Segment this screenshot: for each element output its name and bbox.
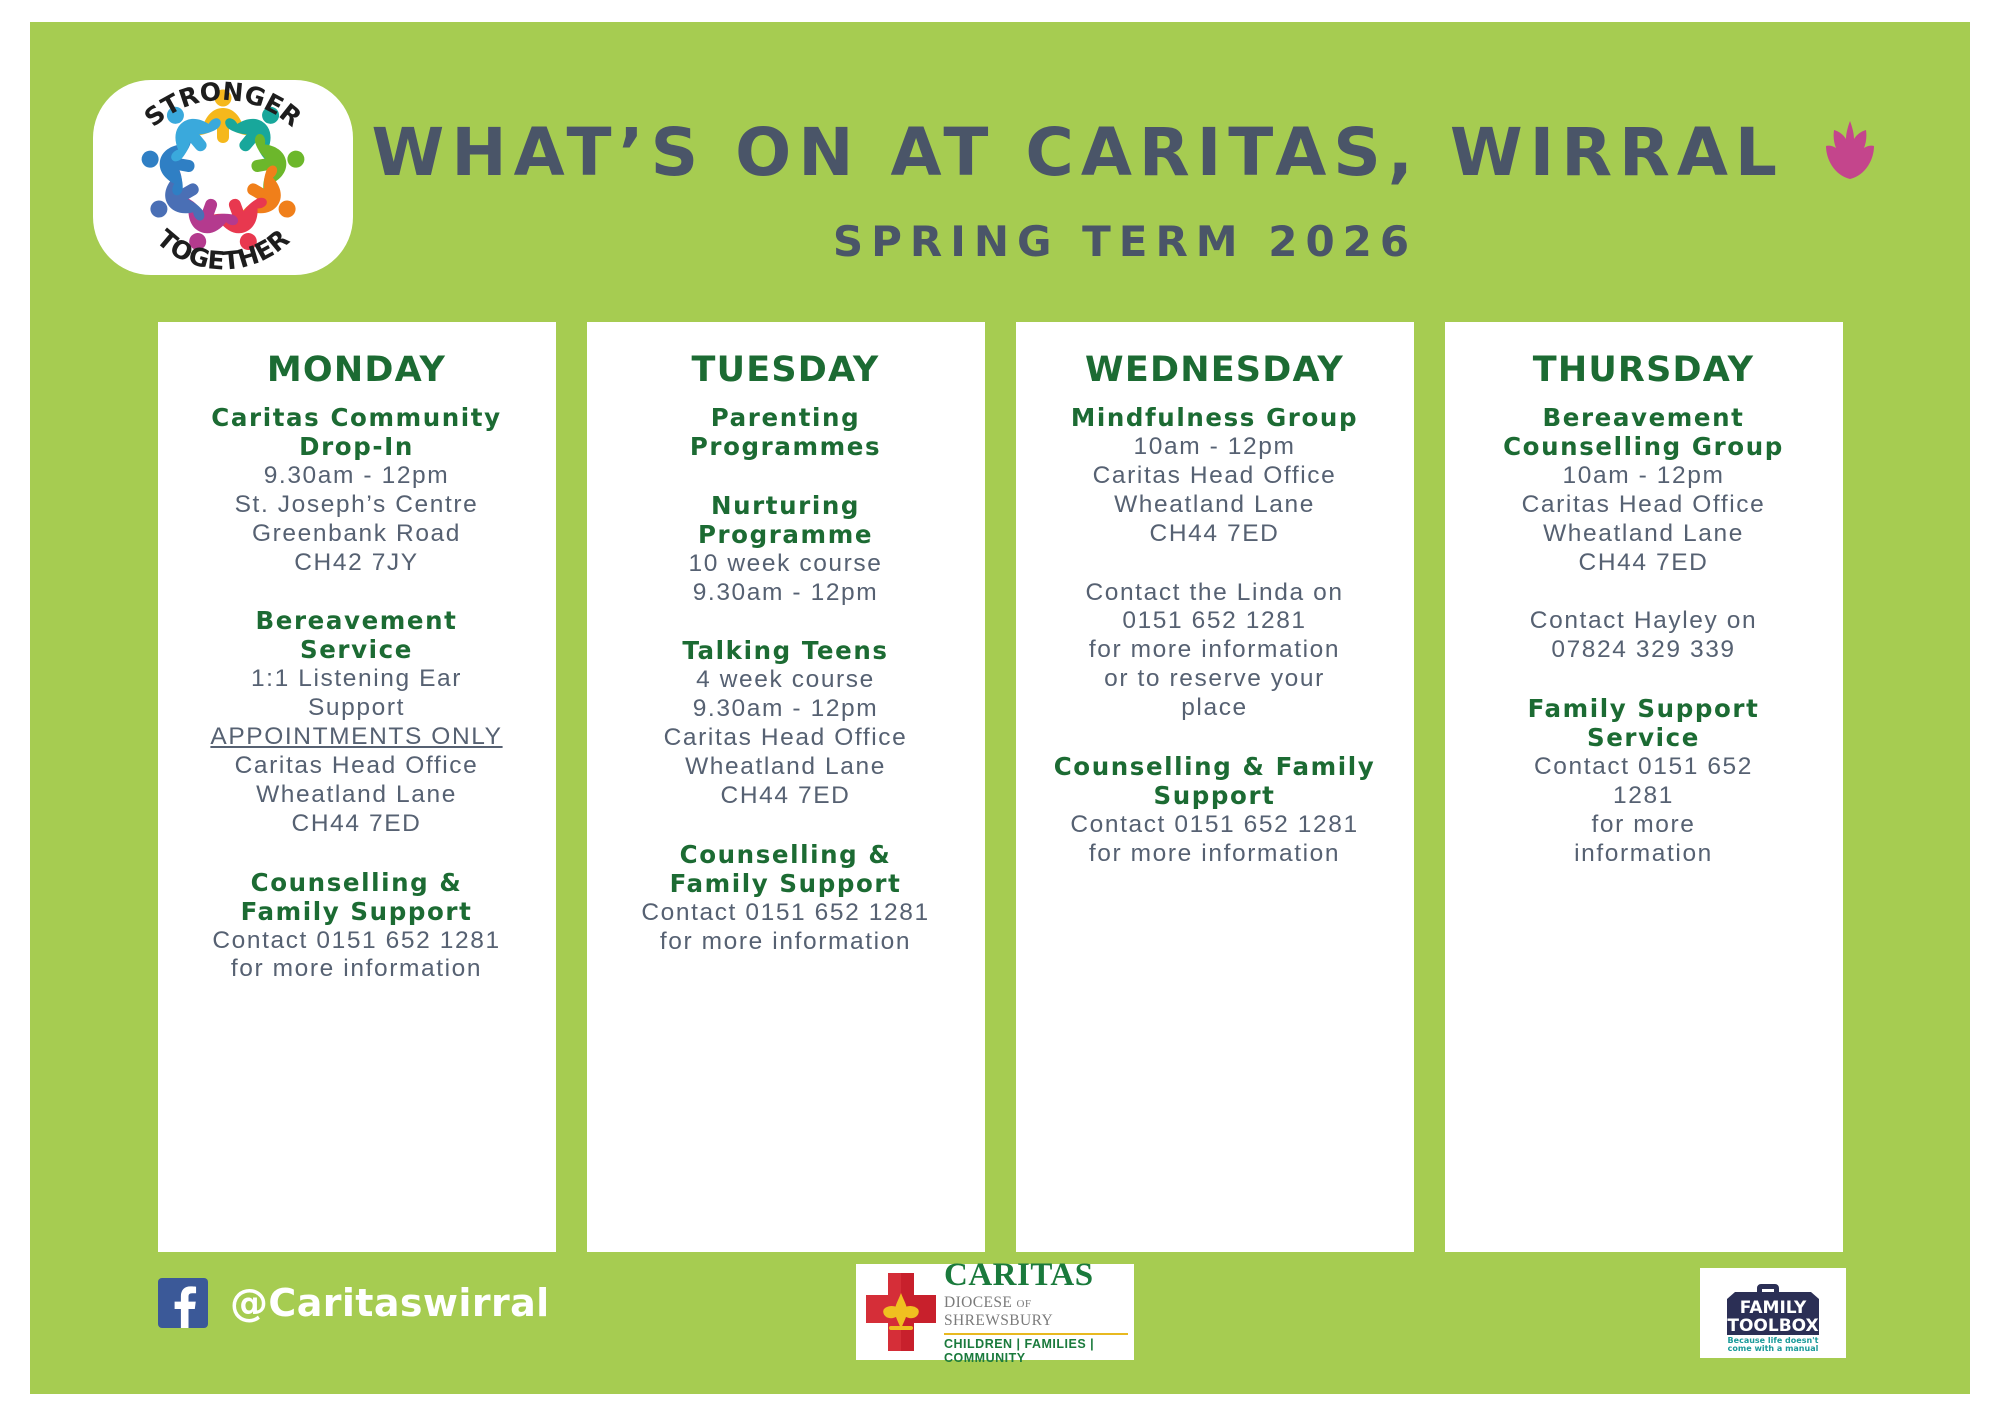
day-card-block: Counselling & FamilySupportContact 0151 … <box>1032 753 1398 869</box>
day-card-heading: MONDAY <box>174 350 540 390</box>
day-card-block: Counselling &Family SupportContact 0151 … <box>174 869 540 985</box>
block-detail-line: Wheatland Lane <box>1032 491 1398 520</box>
block-detail-line: Caritas Head Office <box>174 752 540 781</box>
block-detail-line: Caritas Head Office <box>1032 462 1398 491</box>
block-detail-line: place <box>1032 694 1398 723</box>
block-detail-line: for more information <box>603 928 969 957</box>
block-title-line: Counselling & <box>603 841 969 870</box>
toolbox-line2: TOOLBOX <box>1727 1316 1818 1336</box>
logo-arc-text-bottom: TOGETHER <box>151 224 294 275</box>
block-title-line: Service <box>174 636 540 665</box>
block-detail-line: 0151 652 1281 <box>1032 607 1398 636</box>
poster-footer: @Caritaswirral CARITAS DIOCESE OF SHREWS… <box>30 1252 1970 1394</box>
block-detail-line: CH42 7JY <box>174 549 540 578</box>
day-card-heading: TUESDAY <box>603 350 969 390</box>
block-title-line: Nurturing <box>603 492 969 521</box>
day-card-block: Caritas CommunityDrop-In9.30am - 12pmSt.… <box>174 404 540 577</box>
block-title-line: Counselling & Family <box>1032 753 1398 782</box>
svg-text:TOGETHER: TOGETHER <box>151 224 294 275</box>
block-detail-line: CH44 7ED <box>1032 520 1398 549</box>
block-detail-line: CH44 7ED <box>174 810 540 839</box>
block-detail-line: for more information <box>1032 636 1398 665</box>
diocese-of: OF <box>1017 1298 1032 1310</box>
day-card-block: Family SupportServiceContact 0151 652128… <box>1461 695 1827 868</box>
family-toolbox-logo: FAMILY TOOLBOX Because life doesn't come… <box>1700 1268 1846 1358</box>
block-detail-line: Wheatland Lane <box>1461 520 1827 549</box>
block-detail-line: Caritas Head Office <box>1461 491 1827 520</box>
block-title-line: Talking Teens <box>603 637 969 666</box>
day-card: MONDAYCaritas CommunityDrop-In9.30am - 1… <box>158 322 556 1252</box>
block-detail-line: or to reserve your <box>1032 665 1398 694</box>
block-title-line: Caritas Community <box>174 404 540 433</box>
block-title-line: Drop-In <box>174 433 540 462</box>
block-detail-line: 10am - 12pm <box>1032 433 1398 462</box>
day-card-block: BereavementCounselling Group10am - 12pmC… <box>1461 404 1827 577</box>
facebook-icon[interactable] <box>158 1278 208 1328</box>
block-detail-line: Support <box>174 694 540 723</box>
block-detail-line: Contact 0151 652 1281 <box>603 899 969 928</box>
block-detail-line: Wheatland Lane <box>174 781 540 810</box>
tulip-icon <box>1822 119 1878 181</box>
block-detail-line: 1:1 Listening Ear <box>174 665 540 694</box>
page-title: WHAT’S ON AT CARITAS, WIRRAL <box>372 114 1784 191</box>
block-detail-line: 9.30am - 12pm <box>174 462 540 491</box>
caritas-logo-name: CARITAS <box>944 1259 1128 1292</box>
block-detail-line: 4 week course <box>603 666 969 695</box>
block-title-line: Bereavement <box>174 607 540 636</box>
diocese-pre: DIOCESE <box>944 1294 1017 1311</box>
block-detail-line: Contact 0151 652 <box>1461 753 1827 782</box>
block-title-line: Family Support <box>174 898 540 927</box>
block-detail-line: for more <box>1461 811 1827 840</box>
block-title-line: Programmes <box>603 433 969 462</box>
block-detail-line: Caritas Head Office <box>603 724 969 753</box>
day-card-heading: THURSDAY <box>1461 350 1827 390</box>
block-detail-line: 9.30am - 12pm <box>603 579 969 608</box>
poster-canvas: STRONGER TOGETHER WHAT’S ON AT CARITAS, … <box>30 22 1970 1394</box>
block-title-line: Counselling & <box>174 869 540 898</box>
block-detail-line: 9.30am - 12pm <box>603 695 969 724</box>
caritas-logo-text: CARITAS DIOCESE OF SHREWSBURY CHILDREN |… <box>940 1259 1128 1366</box>
day-card-block: Contact Hayley on07824 329 339 <box>1461 607 1827 665</box>
block-detail-line: Contact 0151 652 1281 <box>174 927 540 956</box>
day-card: WEDNESDAYMindfulness Group10am - 12pmCar… <box>1016 322 1414 1252</box>
diocese-post: SHREWSBURY <box>944 1312 1053 1329</box>
title-block: WHAT’S ON AT CARITAS, WIRRAL SPRING TERM… <box>360 114 1890 266</box>
day-card-block: Talking Teens4 week course9.30am - 12pmC… <box>603 637 969 810</box>
caritas-cross-icon <box>862 1271 940 1353</box>
day-card-block: BereavementService1:1 Listening EarSuppo… <box>174 607 540 838</box>
day-cards-container: MONDAYCaritas CommunityDrop-In9.30am - 1… <box>30 322 1970 1252</box>
block-title-line: Family Support <box>1461 695 1827 724</box>
block-detail-line: CH44 7ED <box>1461 549 1827 578</box>
caritas-logo-tagline: CHILDREN | FAMILIES | COMMUNITY <box>944 1337 1128 1365</box>
day-card-block: Contact the Linda on0151 652 1281for mor… <box>1032 579 1398 724</box>
block-detail-line: Contact 0151 652 1281 <box>1032 811 1398 840</box>
facebook-link[interactable]: @Caritaswirral <box>158 1278 550 1328</box>
day-card-block: NurturingProgramme10 week course9.30am -… <box>603 492 969 608</box>
caritas-logo-diocese: DIOCESE OF SHREWSBURY <box>944 1294 1128 1331</box>
block-detail-line: Greenbank Road <box>174 520 540 549</box>
caritas-logo-divider <box>944 1333 1128 1336</box>
day-card-block: Counselling &Family SupportContact 0151 … <box>603 841 969 957</box>
facebook-handle: @Caritaswirral <box>230 1281 550 1325</box>
day-card-heading: WEDNESDAY <box>1032 350 1398 390</box>
block-detail-line: for more information <box>174 955 540 984</box>
block-detail-line: Wheatland Lane <box>603 753 969 782</box>
block-title-line: Mindfulness Group <box>1032 404 1398 433</box>
toolbox-icon: FAMILY TOOLBOX Because life doesn't come… <box>1713 1275 1833 1351</box>
day-card-block: Mindfulness Group10am - 12pmCaritas Head… <box>1032 404 1398 549</box>
block-title-line: Bereavement <box>1461 404 1827 433</box>
block-title-line: Parenting <box>603 404 969 433</box>
day-card: TUESDAYParentingProgrammesNurturingProgr… <box>587 322 985 1252</box>
page-subtitle: SPRING TERM 2026 <box>360 217 1890 266</box>
toolbox-tagline2: come with a manual <box>1728 1344 1819 1351</box>
block-detail-line: 07824 329 339 <box>1461 636 1827 665</box>
block-detail-line: 1281 <box>1461 782 1827 811</box>
day-card: THURSDAYBereavementCounselling Group10am… <box>1445 322 1843 1252</box>
toolbox-line1: FAMILY <box>1740 1298 1807 1318</box>
block-detail-line: Contact Hayley on <box>1461 607 1827 636</box>
block-detail-line: St. Joseph’s Centre <box>174 491 540 520</box>
block-detail-line: CH44 7ED <box>603 782 969 811</box>
caritas-diocese-logo: CARITAS DIOCESE OF SHREWSBURY CHILDREN |… <box>856 1264 1134 1360</box>
block-title-line: Family Support <box>603 870 969 899</box>
block-title-line: Programme <box>603 521 969 550</box>
block-title-line: Service <box>1461 724 1827 753</box>
block-detail-line: Contact the Linda on <box>1032 579 1398 608</box>
block-title-line: Counselling Group <box>1461 433 1827 462</box>
block-detail-line: information <box>1461 840 1827 869</box>
day-card-block: ParentingProgrammes <box>603 404 969 462</box>
block-detail-line: 10 week course <box>603 550 969 579</box>
poster-header: STRONGER TOGETHER WHAT’S ON AT CARITAS, … <box>30 22 1970 322</box>
stronger-together-logo: STRONGER TOGETHER <box>93 80 353 275</box>
block-title-line: Support <box>1032 782 1398 811</box>
block-detail-line: for more information <box>1032 840 1398 869</box>
block-detail-line: 10am - 12pm <box>1461 462 1827 491</box>
block-detail-line: APPOINTMENTS ONLY <box>174 723 540 752</box>
